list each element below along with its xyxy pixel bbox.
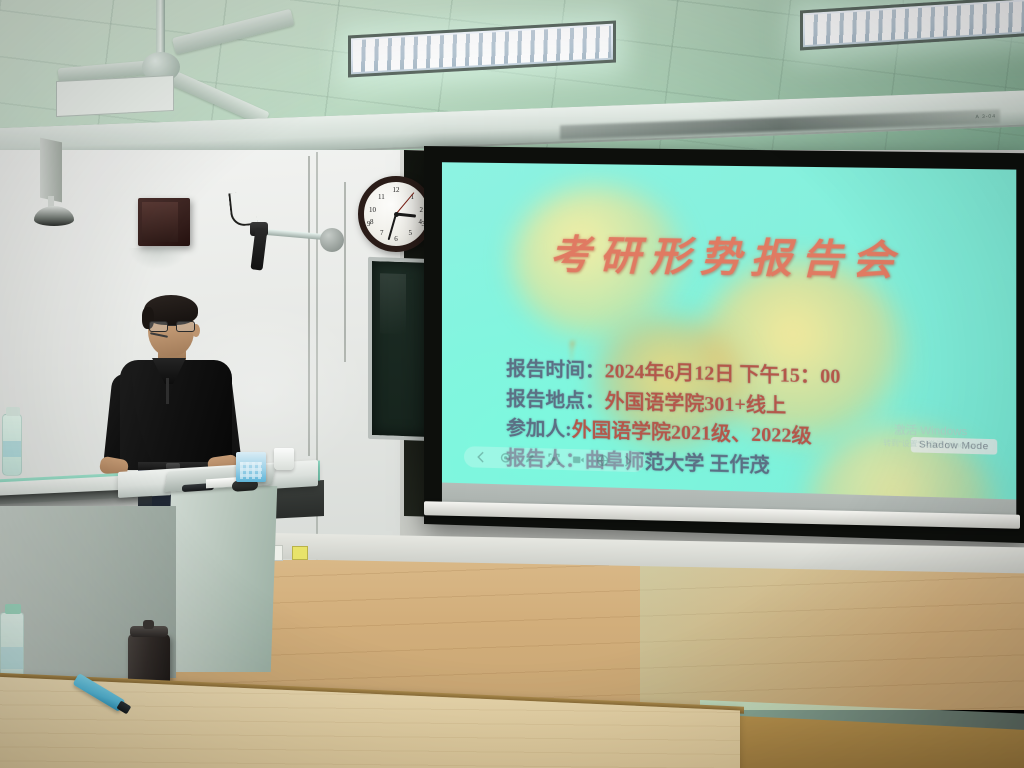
dome-camera [34,196,74,224]
slide-line-value: 外国语学院2021级、2022级 [572,420,812,448]
glasses-lens [149,321,168,332]
wall-bracket [40,138,62,203]
dome-camera-lens [34,206,74,226]
zoom-slide-icon[interactable] [547,452,560,465]
slide-line-value: 外国语学院301+线上 [605,391,786,417]
clock-numeral: 10 [369,206,376,214]
clock-second-hand [396,192,415,214]
bottle-label [3,441,21,457]
ceiling-fan [96,0,326,114]
clock-numeral: 4 [419,218,423,226]
bottle-cap [5,604,21,614]
clock-numeral: 6 [394,235,398,243]
classroom-photo-scene: A 3-04 12 1 2 3 4 5 6 7 8 9 10 11 [0,0,1024,768]
bottle-cap [6,407,20,416]
glasses-lens [176,321,195,332]
slide-line-value: 2024年6月12日 下午15：00 [605,361,841,388]
clock-center-pin [394,212,399,217]
shadow-mode-badge[interactable]: Shadow Mode [911,437,998,455]
next-slide-icon[interactable] [620,454,633,468]
ceiling-access-panel [56,75,174,117]
slide-surface[interactable]: 考研形势报告会 报告时间：2024年6月12日 下午15：00 报告地点：外国语… [442,162,1016,499]
chalkboard-glare [380,273,406,334]
glasses-bridge [168,325,176,326]
camera-wall-mount [320,228,344,252]
fan-blade [172,9,294,55]
clock-numeral: 9 [367,220,371,228]
presenter-placket [166,378,169,404]
podium-body [165,486,277,672]
subtitles-icon[interactable] [572,453,585,466]
water-bottle [2,414,22,476]
calculator[interactable] [236,452,266,482]
clock-numeral: 2 [420,206,424,214]
wall-scuff [128,248,188,270]
glasses-icon [148,321,196,332]
floor-light-reflection [640,560,1024,710]
speaker-grille [142,202,178,242]
slide-line-label: 报告地点： [506,389,605,413]
beam-label: A 3-04 [976,113,996,120]
paper-cup [274,448,294,470]
clock-numeral: 12 [393,186,400,194]
prev-slide-icon[interactable] [475,450,488,463]
clock-numeral: 7 [380,229,384,237]
slide-title: 考研形势报告会 [442,220,1016,289]
fan-rod [156,0,165,56]
thermos-knob [143,620,154,629]
pen-icon[interactable] [523,452,536,465]
clock-hour-hand [396,213,416,218]
projection-screen: 考研形势报告会 报告时间：2024年6月12日 下午15：00 报告地点：外国语… [424,146,1024,543]
wall-speaker [138,198,190,246]
laser-pointer-icon[interactable] [499,451,512,464]
bottle-label [1,647,23,669]
slide-line-label: 报告时间： [506,359,605,382]
wall-clock: 12 1 2 3 4 5 6 7 8 9 10 11 [358,176,434,252]
clock-numeral: 5 [409,229,413,237]
clock-numeral: 11 [378,193,385,201]
slide-line-label: 参加人: [506,419,572,442]
power-outlet [292,546,308,560]
all-slides-icon[interactable] [596,454,609,467]
